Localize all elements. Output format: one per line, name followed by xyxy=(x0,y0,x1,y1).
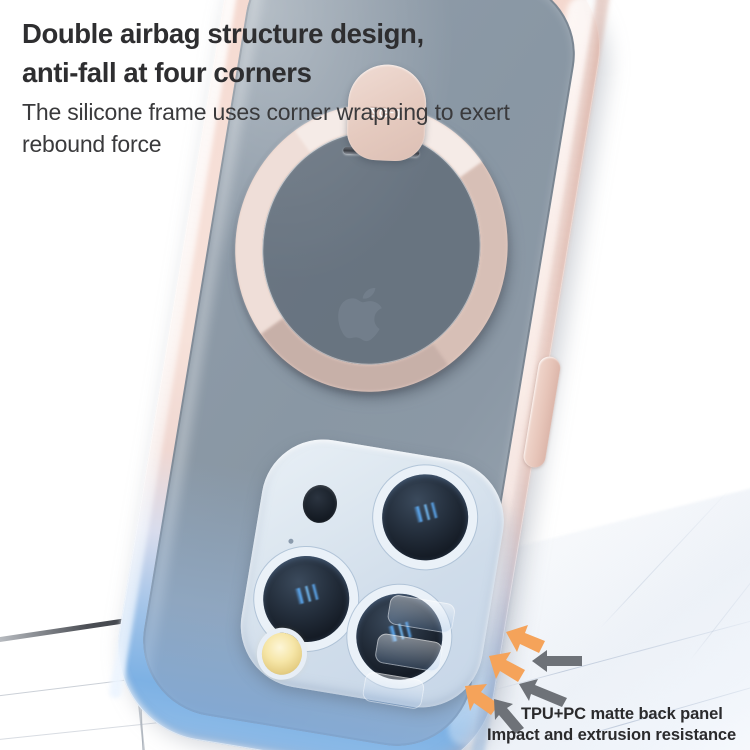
product-feature-image: ZG-1 Double airbag structure design, ant… xyxy=(0,0,750,750)
airbag-ridge xyxy=(374,632,444,672)
headline: Double airbag structure design, anti-fal… xyxy=(22,14,722,92)
camera-lens-telephoto xyxy=(376,468,475,567)
camera-lens-wide xyxy=(257,550,356,649)
airbag-ridge xyxy=(386,594,456,634)
caption-line-1: TPU+PC matte back panel xyxy=(521,704,723,725)
caption-line-2: Impact and extrusion resistance xyxy=(487,725,736,746)
microphone-icon xyxy=(288,538,294,544)
impact-arrow-inward xyxy=(530,648,584,674)
copy-block: Double airbag structure design, anti-fal… xyxy=(22,14,722,161)
subheadline: The silicone frame uses corner wrapping … xyxy=(22,97,722,160)
airbag-ridge xyxy=(361,671,425,710)
lidar-sensor-icon xyxy=(300,482,340,525)
